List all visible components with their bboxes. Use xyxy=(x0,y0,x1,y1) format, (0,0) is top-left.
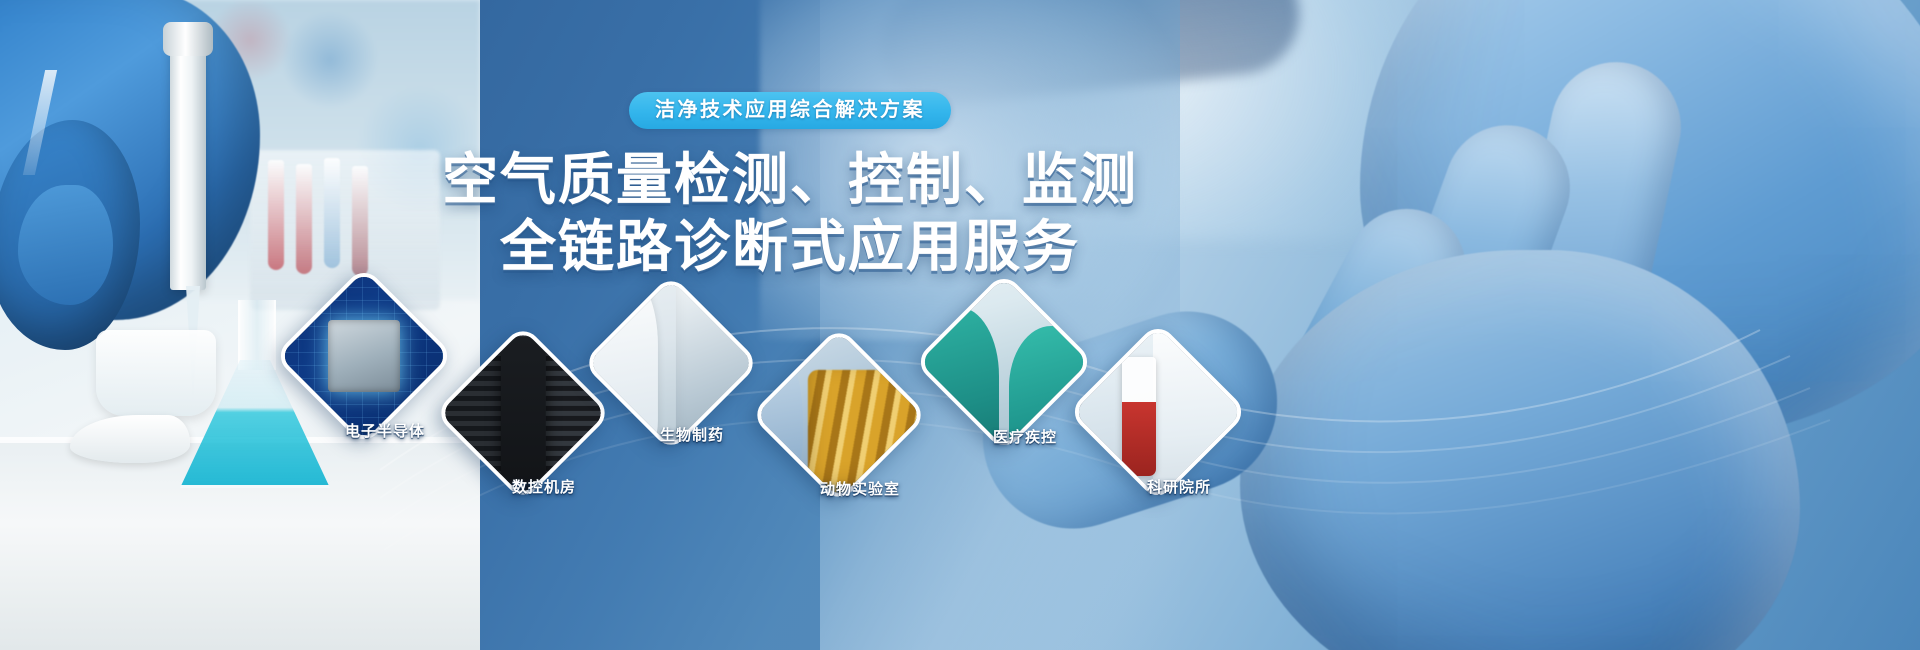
industry-card-row: 电子半导体 数控机房 生物制药 动物实验室 医疗疾控 xyxy=(0,0,1920,650)
industry-card-animal-lab[interactable]: 动物实验室 xyxy=(776,352,902,478)
card-label: 电子半导体 xyxy=(345,420,425,441)
industry-card-datacenter[interactable]: 数控机房 xyxy=(460,350,586,476)
card-label: 医疗疾控 xyxy=(993,426,1057,447)
card-label: 生物制药 xyxy=(660,424,724,445)
industry-card-electronics[interactable]: 电子半导体 xyxy=(300,292,428,420)
card-label: 数控机房 xyxy=(512,476,576,497)
industry-card-biopharma[interactable]: 生物制药 xyxy=(608,300,734,426)
card-label: 动物实验室 xyxy=(820,478,900,499)
hero-banner: 洁净技术应用综合解决方案 空气质量检测、控制、监测 全链路诊断式应用服务 电子半… xyxy=(0,0,1920,650)
industry-card-research[interactable]: 科研院所 xyxy=(1094,348,1222,476)
industry-card-medical[interactable]: 医疗疾控 xyxy=(940,298,1068,426)
card-label: 科研院所 xyxy=(1147,476,1211,497)
